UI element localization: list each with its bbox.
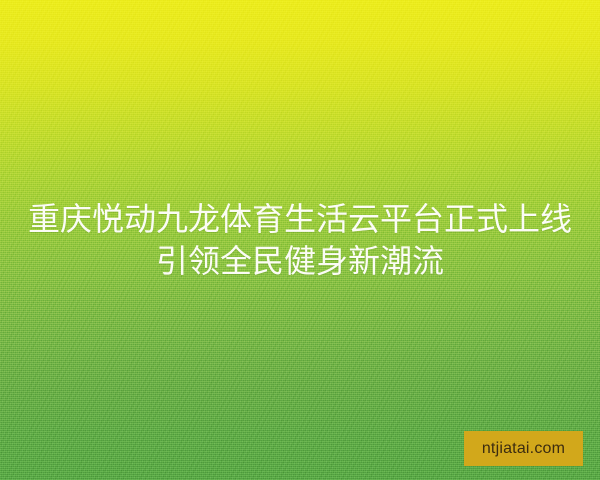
watermark-label: ntjiatai.com (482, 441, 565, 457)
promotional-banner: 重庆悦动九龙体育生活云平台正式上线引领全民健身新潮流 ntjiatai.com (0, 0, 600, 480)
watermark-badge: ntjiatai.com (464, 431, 583, 466)
banner-headline: 重庆悦动九龙体育生活云平台正式上线引领全民健身新潮流 (0, 198, 600, 282)
